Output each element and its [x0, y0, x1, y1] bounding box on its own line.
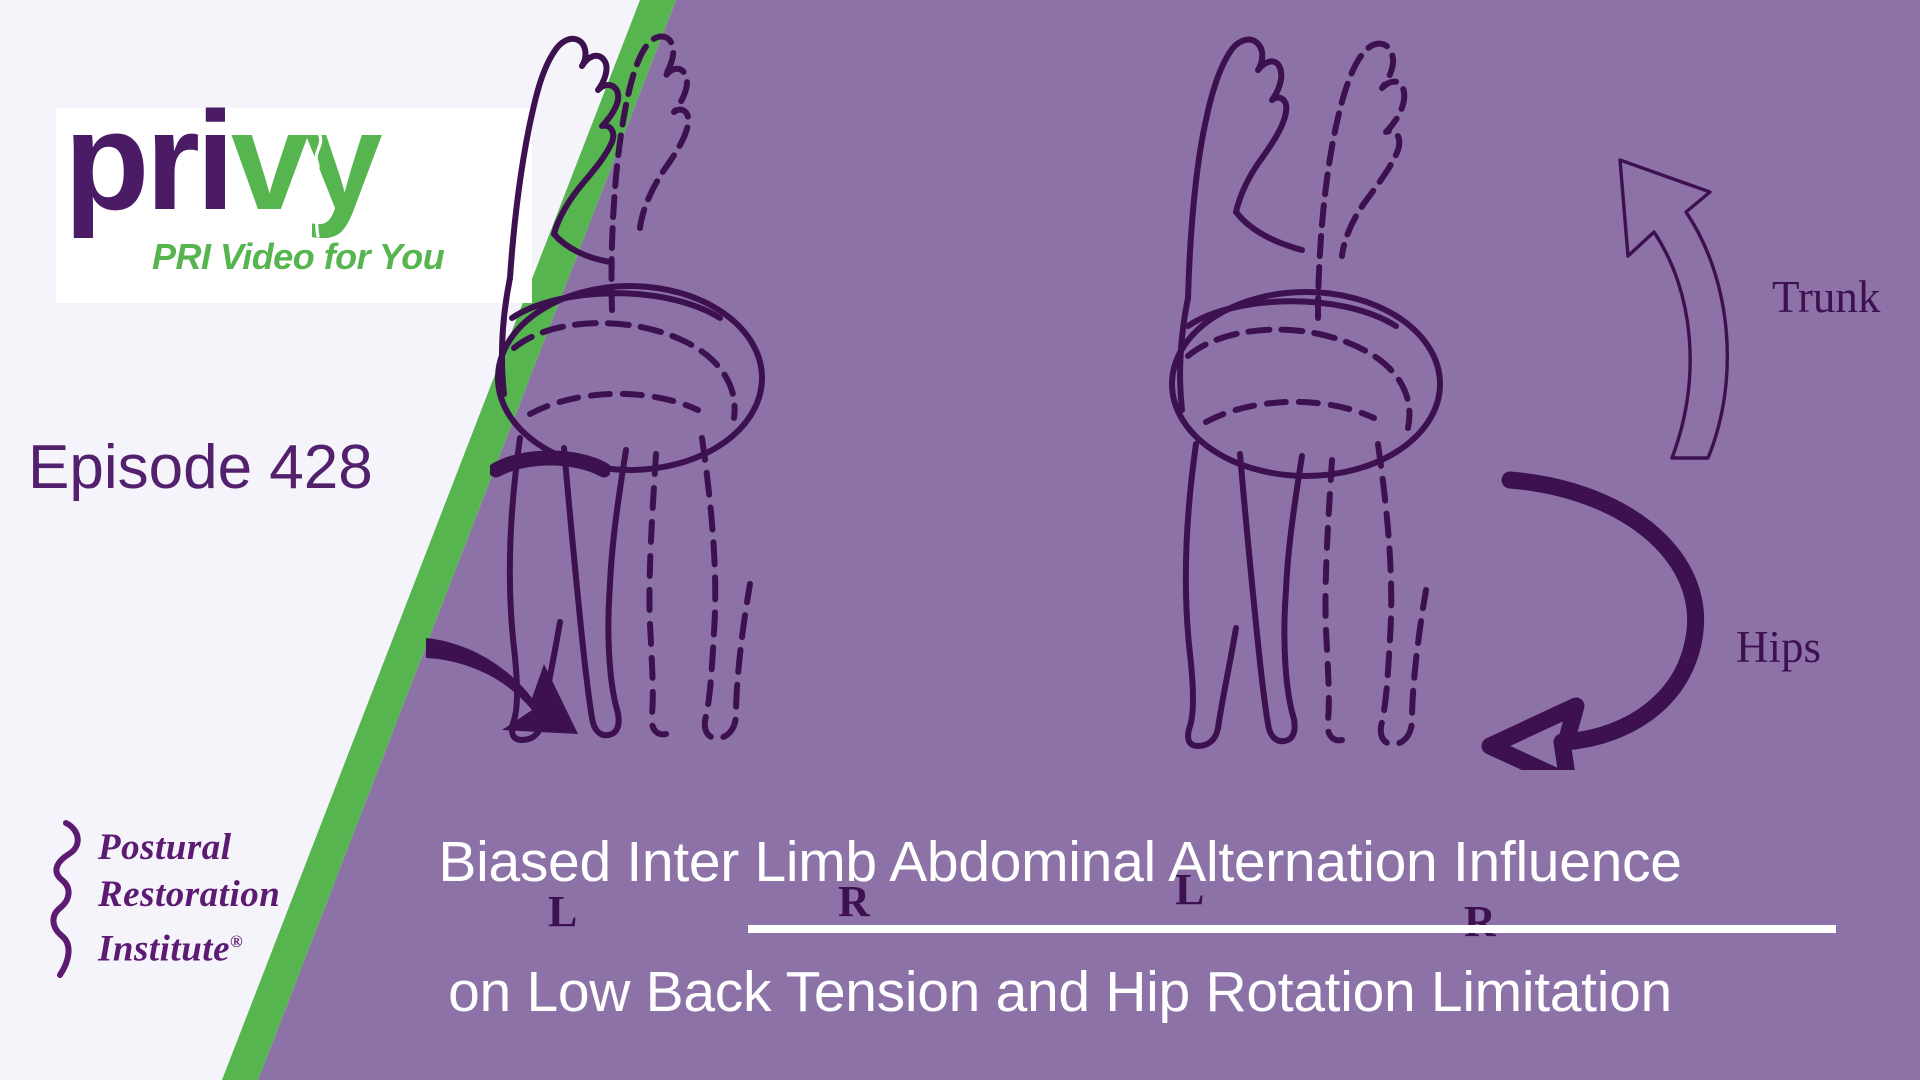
right-figure-label-R: R — [1464, 900, 1496, 944]
title-line-1: Biased Inter Limb Abdominal Alternation … — [0, 830, 1920, 894]
title-line-2: on Low Back Tension and Hip Rotation Lim… — [0, 960, 1920, 1024]
privy-logo[interactable]: privy PRI Video for You — [56, 108, 532, 303]
privy-wordmark: privy — [56, 86, 532, 236]
title-card: privy PRI Video for You Episode 428 Post… — [0, 0, 1920, 1080]
privy-wordmark-pri: pri — [64, 82, 231, 239]
privy-tagline: PRI Video for You — [152, 236, 444, 278]
left-figure-label-L: L — [548, 890, 577, 934]
hips-annotation-label: Hips — [1736, 625, 1821, 670]
title-divider-rule — [748, 925, 1836, 933]
privy-wordmark-vy: vy — [231, 82, 379, 239]
episode-label: Episode 428 — [28, 432, 373, 503]
trunk-annotation-label: Trunk — [1772, 275, 1880, 320]
registered-mark: ® — [230, 932, 243, 951]
